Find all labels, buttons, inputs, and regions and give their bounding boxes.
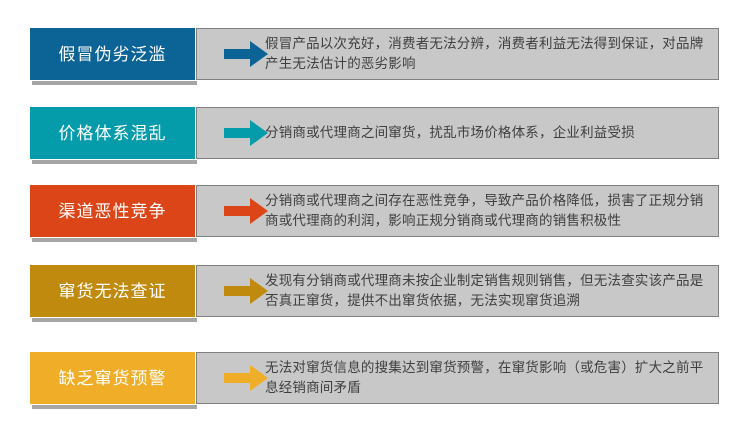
category-label-box[interactable]: 假冒伪劣泛滥 <box>30 28 195 80</box>
category-label-text: 缺乏窜货预警 <box>59 370 167 387</box>
description-panel: 发现有分销商或代理商未按企业制定销售规则销售，但无法查实该产品是否真正窜货，提供… <box>196 265 719 317</box>
category-label-text: 假冒伪劣泛滥 <box>59 46 167 63</box>
category-label-box[interactable]: 价格体系混乱 <box>30 107 195 159</box>
category-label-box[interactable]: 窜货无法查证 <box>30 265 195 317</box>
label-box-shadow <box>32 238 197 242</box>
label-box-shadow <box>32 318 197 322</box>
description-panel: 假冒产品以次充好，消费者无法分辨，消费者利益无法得到保证，对品牌产生无法估计的恶… <box>196 28 719 80</box>
description-text: 发现有分销商或代理商未按企业制定销售规则销售，但无法查实该产品是否真正窜货，提供… <box>265 266 708 316</box>
description-text: 分销商或代理商之间窜货，扰乱市场价格体系，企业利益受损 <box>265 108 708 158</box>
description-text: 无法对窜货信息的搜集达到窜货预警，在窜货影响（或危害）扩大之前平息经销商间矛盾 <box>265 353 708 403</box>
description-panel: 分销商或代理商之间窜货，扰乱市场价格体系，企业利益受损 <box>196 107 719 159</box>
description-text: 假冒产品以次充好，消费者无法分辨，消费者利益无法得到保证，对品牌产生无法估计的恶… <box>265 29 708 79</box>
diagram-row: 发现有分销商或代理商未按企业制定销售规则销售，但无法查实该产品是否真正窜货，提供… <box>30 265 719 317</box>
category-label-box[interactable]: 缺乏窜货预警 <box>30 352 195 404</box>
diagram-row: 分销商或代理商之间窜货，扰乱市场价格体系，企业利益受损价格体系混乱 <box>30 107 719 159</box>
category-label-text: 渠道恶性竞争 <box>59 203 167 220</box>
diagram-row: 假冒产品以次充好，消费者无法分辨，消费者利益无法得到保证，对品牌产生无法估计的恶… <box>30 28 719 80</box>
category-label-box[interactable]: 渠道恶性竞争 <box>30 185 195 237</box>
description-text: 分销商或代理商之间存在恶性竞争，导致产品价格降低，损害了正规分销商或代理商的利润… <box>265 186 708 236</box>
category-label-text: 窜货无法查证 <box>59 283 167 300</box>
diagram-row: 分销商或代理商之间存在恶性竞争，导致产品价格降低，损害了正规分销商或代理商的利润… <box>30 185 719 237</box>
label-box-shadow <box>32 405 197 409</box>
description-panel: 分销商或代理商之间存在恶性竞争，导致产品价格降低，损害了正规分销商或代理商的利润… <box>196 185 719 237</box>
description-panel: 无法对窜货信息的搜集达到窜货预警，在窜货影响（或危害）扩大之前平息经销商间矛盾 <box>196 352 719 404</box>
diagram-row: 无法对窜货信息的搜集达到窜货预警，在窜货影响（或危害）扩大之前平息经销商间矛盾缺… <box>30 352 719 404</box>
problem-list-diagram: 假冒产品以次充好，消费者无法分辨，消费者利益无法得到保证，对品牌产生无法估计的恶… <box>0 0 749 425</box>
category-label-text: 价格体系混乱 <box>59 125 167 142</box>
label-box-shadow <box>32 81 197 85</box>
label-box-shadow <box>32 160 197 164</box>
